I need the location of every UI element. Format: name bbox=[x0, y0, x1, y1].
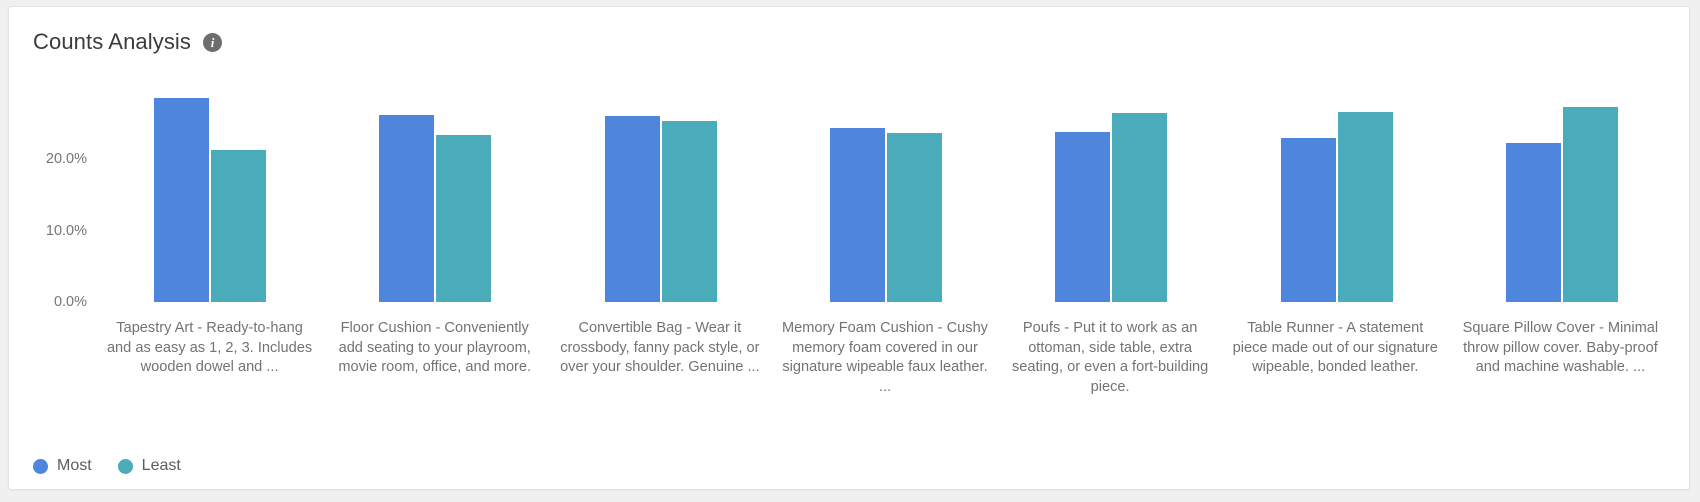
bar-least[interactable] bbox=[436, 135, 491, 302]
bar-least[interactable] bbox=[211, 150, 266, 302]
bar-most[interactable] bbox=[379, 115, 434, 302]
x-axis-label: Square Pillow Cover - Minimal throw pill… bbox=[1448, 319, 1673, 397]
bar-chart-plot-area: 0.0%10.0%20.0% bbox=[9, 67, 1691, 317]
x-axis-label: Floor Cushion - Conveniently add seating… bbox=[322, 319, 547, 397]
bar-group bbox=[322, 52, 547, 317]
info-icon[interactable]: i bbox=[203, 33, 222, 52]
legend-item-most[interactable]: Most bbox=[33, 457, 92, 475]
bar-least[interactable] bbox=[662, 121, 717, 302]
x-axis-label: Tapestry Art - Ready-to-hang and as easy… bbox=[97, 319, 322, 397]
x-axis-label: Table Runner - A statement piece made ou… bbox=[1223, 319, 1448, 397]
bar-groups bbox=[97, 67, 1675, 317]
bar-group bbox=[773, 52, 998, 317]
bar-least[interactable] bbox=[887, 133, 942, 302]
y-axis-tick: 10.0% bbox=[46, 223, 87, 239]
bar-group bbox=[1450, 52, 1675, 317]
bar-most[interactable] bbox=[1055, 132, 1110, 302]
bar-least[interactable] bbox=[1563, 107, 1618, 302]
legend-label: Least bbox=[142, 457, 181, 475]
bar-most[interactable] bbox=[605, 116, 660, 302]
y-axis-tick: 20.0% bbox=[46, 151, 87, 167]
bar-group bbox=[97, 52, 322, 317]
bar-most[interactable] bbox=[830, 128, 885, 302]
bar-most[interactable] bbox=[154, 98, 209, 302]
bar-least[interactable] bbox=[1112, 113, 1167, 302]
bar-least[interactable] bbox=[1338, 112, 1393, 302]
bar-group bbox=[548, 52, 773, 317]
bar-most[interactable] bbox=[1281, 138, 1336, 302]
counts-analysis-card: Counts Analysis i 0.0%10.0%20.0% Tapestr… bbox=[8, 6, 1690, 490]
legend-swatch-icon bbox=[118, 459, 133, 474]
x-axis-labels: Tapestry Art - Ready-to-hang and as easy… bbox=[97, 319, 1673, 397]
y-axis: 0.0%10.0%20.0% bbox=[9, 67, 97, 317]
y-axis-tick: 0.0% bbox=[54, 294, 87, 310]
bar-group bbox=[1224, 52, 1449, 317]
x-axis-label: Convertible Bag - Wear it crossbody, fan… bbox=[547, 319, 772, 397]
chart-legend: MostLeast bbox=[33, 457, 181, 475]
x-axis-label: Poufs - Put it to work as an ottoman, si… bbox=[998, 319, 1223, 397]
bar-group bbox=[999, 52, 1224, 317]
legend-swatch-icon bbox=[33, 459, 48, 474]
bar-most[interactable] bbox=[1506, 143, 1561, 302]
x-axis-label: Memory Foam Cushion - Cushy memory foam … bbox=[772, 319, 997, 397]
legend-label: Most bbox=[57, 457, 92, 475]
legend-item-least[interactable]: Least bbox=[118, 457, 181, 475]
